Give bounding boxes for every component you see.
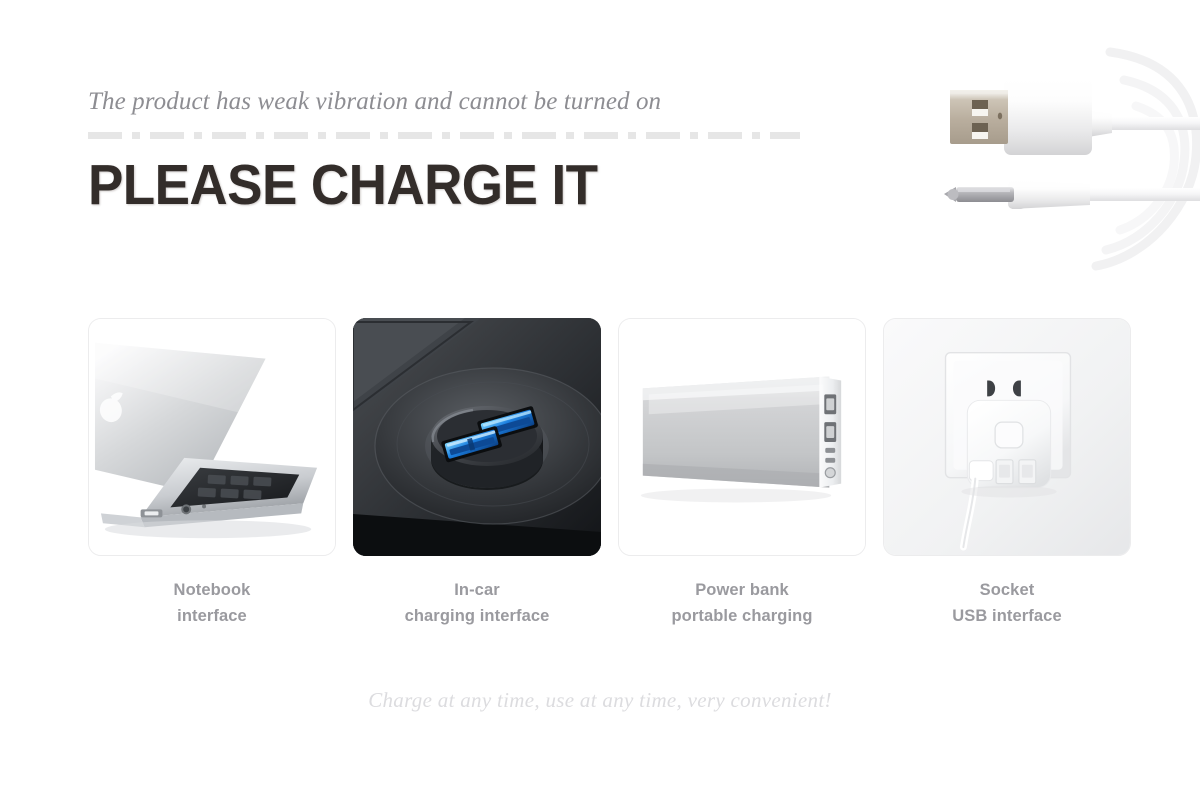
caption-line-2: interface xyxy=(174,603,251,629)
dashed-divider xyxy=(88,132,800,139)
footer-tagline: Charge at any time, use at any time, ver… xyxy=(0,688,1200,713)
card-caption: Power bank portable charging xyxy=(671,577,812,629)
caption-line-1: In-car xyxy=(405,577,550,603)
page-title: PLEASE CHARGE IT xyxy=(88,156,795,214)
socket-card-image[interactable] xyxy=(883,318,1131,556)
promo-page: The product has weak vibration and canno… xyxy=(0,0,1200,785)
card-caption: Socket USB interface xyxy=(952,577,1062,629)
caption-line-1: Socket xyxy=(952,577,1062,603)
card-notebook[interactable]: Notebook interface xyxy=(88,318,336,634)
header-subtitle: The product has weak vibration and canno… xyxy=(88,88,848,116)
in-car-card-image[interactable] xyxy=(353,318,601,556)
card-caption: Notebook interface xyxy=(174,577,251,629)
caption-line-2: charging interface xyxy=(405,603,550,629)
caption-line-1: Notebook xyxy=(174,577,251,603)
car-usb-charger-photo xyxy=(353,318,601,556)
caption-line-2: portable charging xyxy=(671,603,812,629)
usb-cable-illustration xyxy=(900,44,1200,276)
notebook-card-image[interactable] xyxy=(88,318,336,556)
card-power-bank[interactable]: Power bank portable charging xyxy=(618,318,866,634)
laptop-photo xyxy=(89,319,335,555)
usage-card-row: Notebook interface xyxy=(88,318,1134,634)
power-bank-photo xyxy=(619,319,865,555)
caption-line-1: Power bank xyxy=(671,577,812,603)
card-socket[interactable]: Socket USB interface xyxy=(883,318,1131,634)
card-caption: In-car charging interface xyxy=(405,577,550,629)
card-in-car[interactable]: In-car charging interface xyxy=(353,318,601,634)
header-block: The product has weak vibration and canno… xyxy=(88,88,848,214)
wall-socket-usb-photo xyxy=(884,319,1130,555)
power-bank-card-image[interactable] xyxy=(618,318,866,556)
caption-line-2: USB interface xyxy=(952,603,1062,629)
